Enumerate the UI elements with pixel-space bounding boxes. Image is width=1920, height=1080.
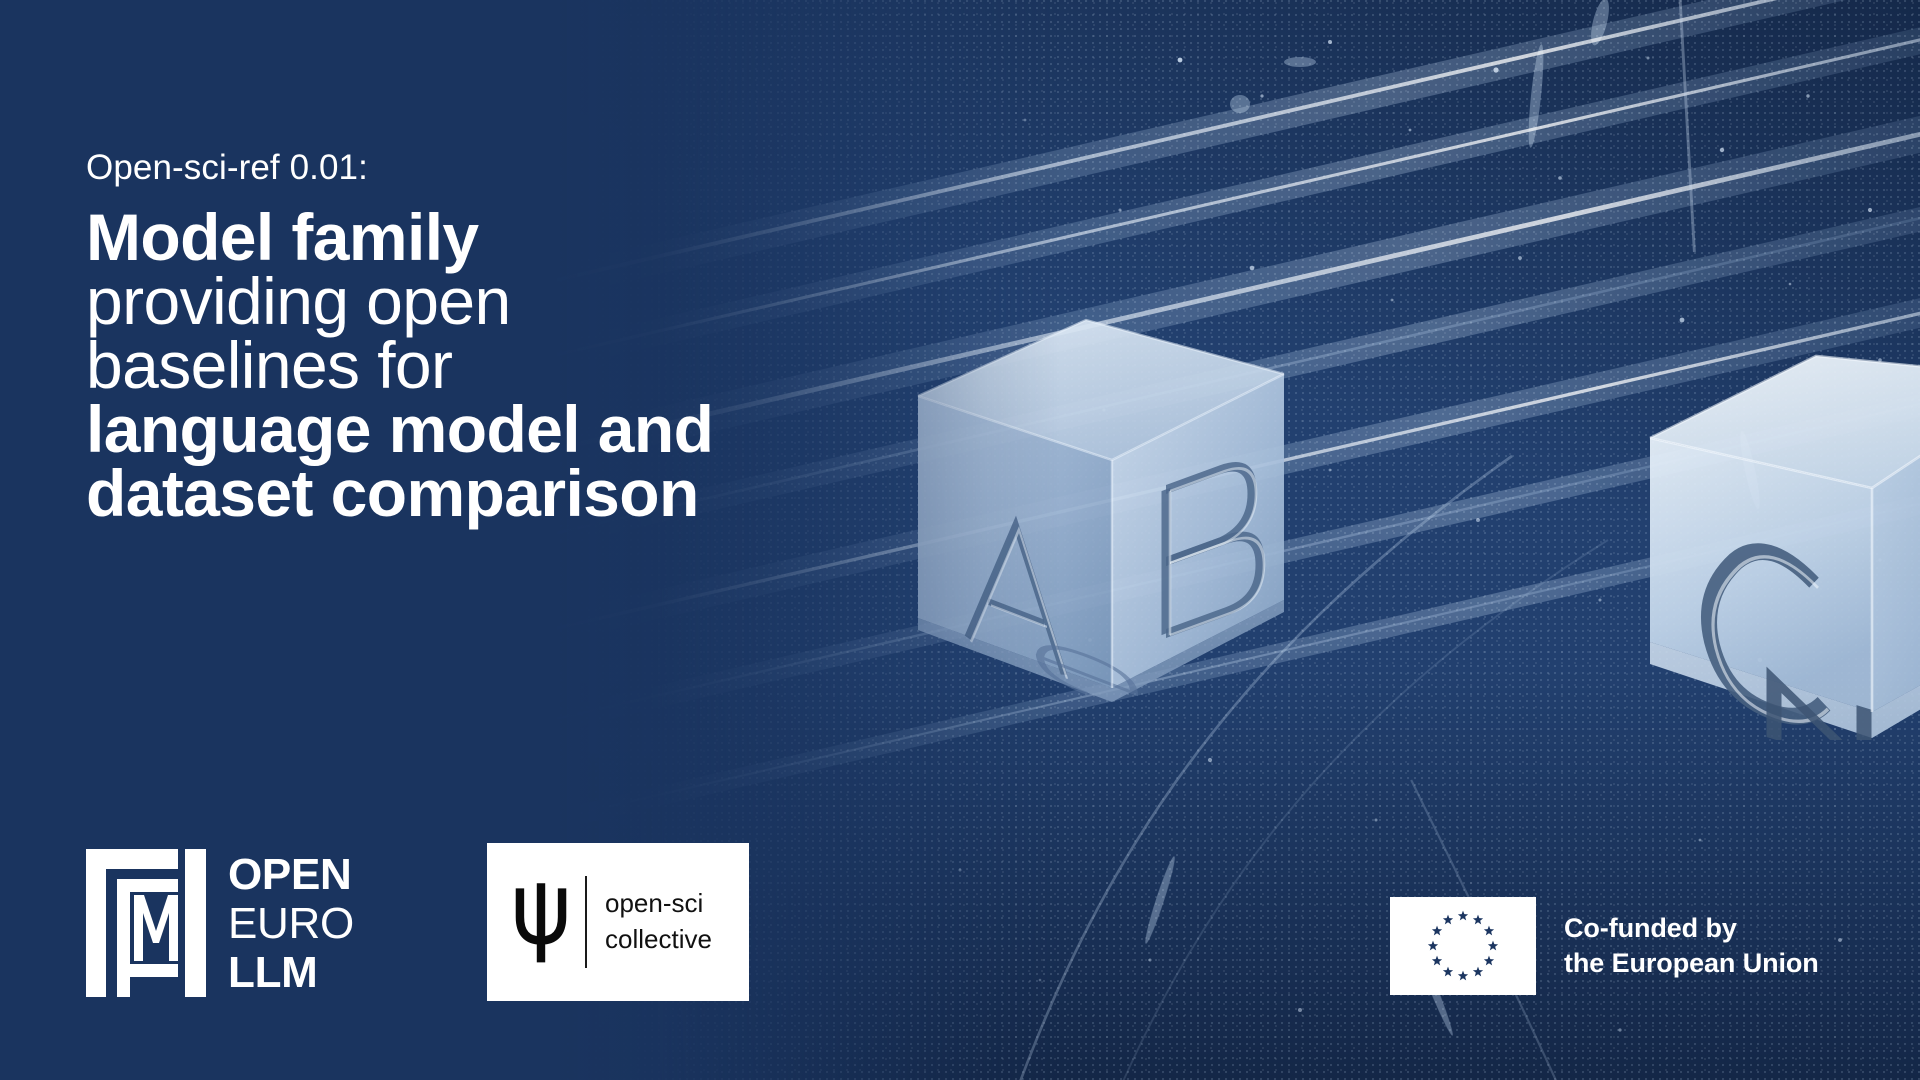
- headline-line-5: dataset comparison: [86, 461, 946, 525]
- openeurollm-mark-icon: [86, 849, 206, 997]
- alphabet-block-cd: [1620, 320, 1920, 740]
- openeurollm-word-llm: LLM: [228, 951, 354, 995]
- headline-block: Open-sci-ref 0.01: Model family providin…: [86, 150, 946, 525]
- slide-canvas: Open-sci-ref 0.01: Model family providin…: [0, 0, 1920, 1080]
- opensci-wordmark: open-sci collective: [605, 886, 712, 958]
- opensci-divider: [585, 876, 587, 968]
- kicker-label: Open-sci-ref 0.01:: [86, 150, 946, 185]
- opensci-word-line-2: collective: [605, 922, 712, 958]
- opensci-collective-logo[interactable]: open-sci collective: [487, 843, 749, 1001]
- headline-line-4: language model and: [86, 397, 946, 461]
- psi-symbol-icon: [503, 874, 579, 970]
- headline-line-3: baselines for: [86, 333, 946, 397]
- openeurollm-logo[interactable]: OPEN EURO LLM: [86, 849, 354, 997]
- openeurollm-word-euro: EURO: [228, 902, 354, 946]
- headline-line-1: Model family: [86, 205, 946, 269]
- openeurollm-wordmark: OPEN EURO LLM: [228, 849, 354, 997]
- european-union-flag-icon: [1390, 897, 1536, 995]
- eu-caption-line-1: Co-funded by: [1564, 911, 1819, 946]
- eu-cofunding-logo[interactable]: Co-funded by the European Union: [1390, 897, 1819, 995]
- eu-caption-line-2: the European Union: [1564, 946, 1819, 981]
- openeurollm-word-open: OPEN: [228, 853, 354, 897]
- eu-caption: Co-funded by the European Union: [1564, 911, 1819, 980]
- opensci-word-line-1: open-sci: [605, 886, 712, 922]
- headline-line-2: providing open: [86, 269, 946, 333]
